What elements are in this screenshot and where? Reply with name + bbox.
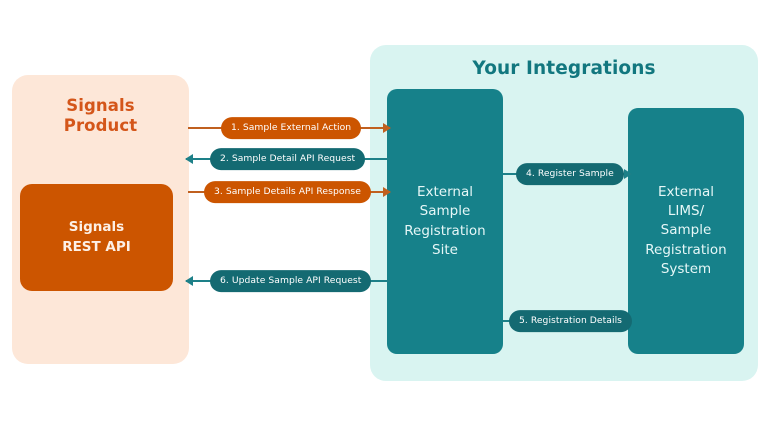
diagram-canvas: Signals Product Signals REST API Your In…	[0, 0, 768, 432]
signals-rest-api-box[interactable]: Signals REST API	[20, 184, 173, 291]
ext-sample-reg-site-line4: Site	[404, 241, 485, 260]
ext-lims-system-line1: External	[645, 183, 726, 202]
connector-6-label[interactable]: 6. Update Sample API Request	[210, 270, 371, 292]
signals-rest-api-label-line1: Signals	[62, 218, 131, 237]
connector-1-label[interactable]: 1. Sample External Action	[221, 117, 361, 139]
connector-4-label[interactable]: 4. Register Sample	[516, 163, 624, 185]
connector-5-registration-details: 5. Registration Details	[503, 310, 631, 332]
connector-3-label[interactable]: 3. Sample Details API Response	[204, 181, 371, 203]
arrowhead-right-icon	[383, 123, 391, 133]
connector-2-sample-detail-api-request: 2. Sample Detail API Request	[186, 148, 390, 170]
connector-1-sample-external-action: 1. Sample External Action	[188, 117, 390, 139]
your-integrations-title: Your Integrations	[370, 58, 758, 81]
arrowhead-right-icon	[624, 169, 632, 179]
arrowhead-left-icon	[185, 154, 193, 164]
arrowhead-left-icon	[185, 276, 193, 286]
ext-lims-system-line4: Registration	[645, 241, 726, 260]
ext-lims-system-line3: Sample	[645, 221, 726, 240]
external-lims-system-box[interactable]: External LIMS/ Sample Registration Syste…	[628, 108, 744, 354]
connector-4-register-sample: 4. Register Sample	[503, 163, 631, 185]
connector-5-label[interactable]: 5. Registration Details	[509, 310, 632, 332]
ext-sample-reg-site-line1: External	[404, 183, 485, 202]
connector-3-sample-details-api-response: 3. Sample Details API Response	[188, 181, 390, 203]
signals-product-title: Signals Product	[12, 96, 189, 136]
ext-lims-system-line5: System	[645, 260, 726, 279]
external-sample-registration-site-box[interactable]: External Sample Registration Site	[387, 89, 503, 354]
signals-product-title-line2: Product	[12, 116, 189, 136]
ext-sample-reg-site-line2: Sample	[404, 202, 485, 221]
ext-lims-system-line2: LIMS/	[645, 202, 726, 221]
connector-2-label[interactable]: 2. Sample Detail API Request	[210, 148, 365, 170]
arrowhead-right-icon	[383, 187, 391, 197]
signals-product-title-line1: Signals	[12, 96, 189, 116]
connector-6-update-sample-api-request: 6. Update Sample API Request	[186, 270, 390, 292]
signals-rest-api-label-line2: REST API	[62, 238, 131, 257]
ext-sample-reg-site-line3: Registration	[404, 222, 485, 241]
